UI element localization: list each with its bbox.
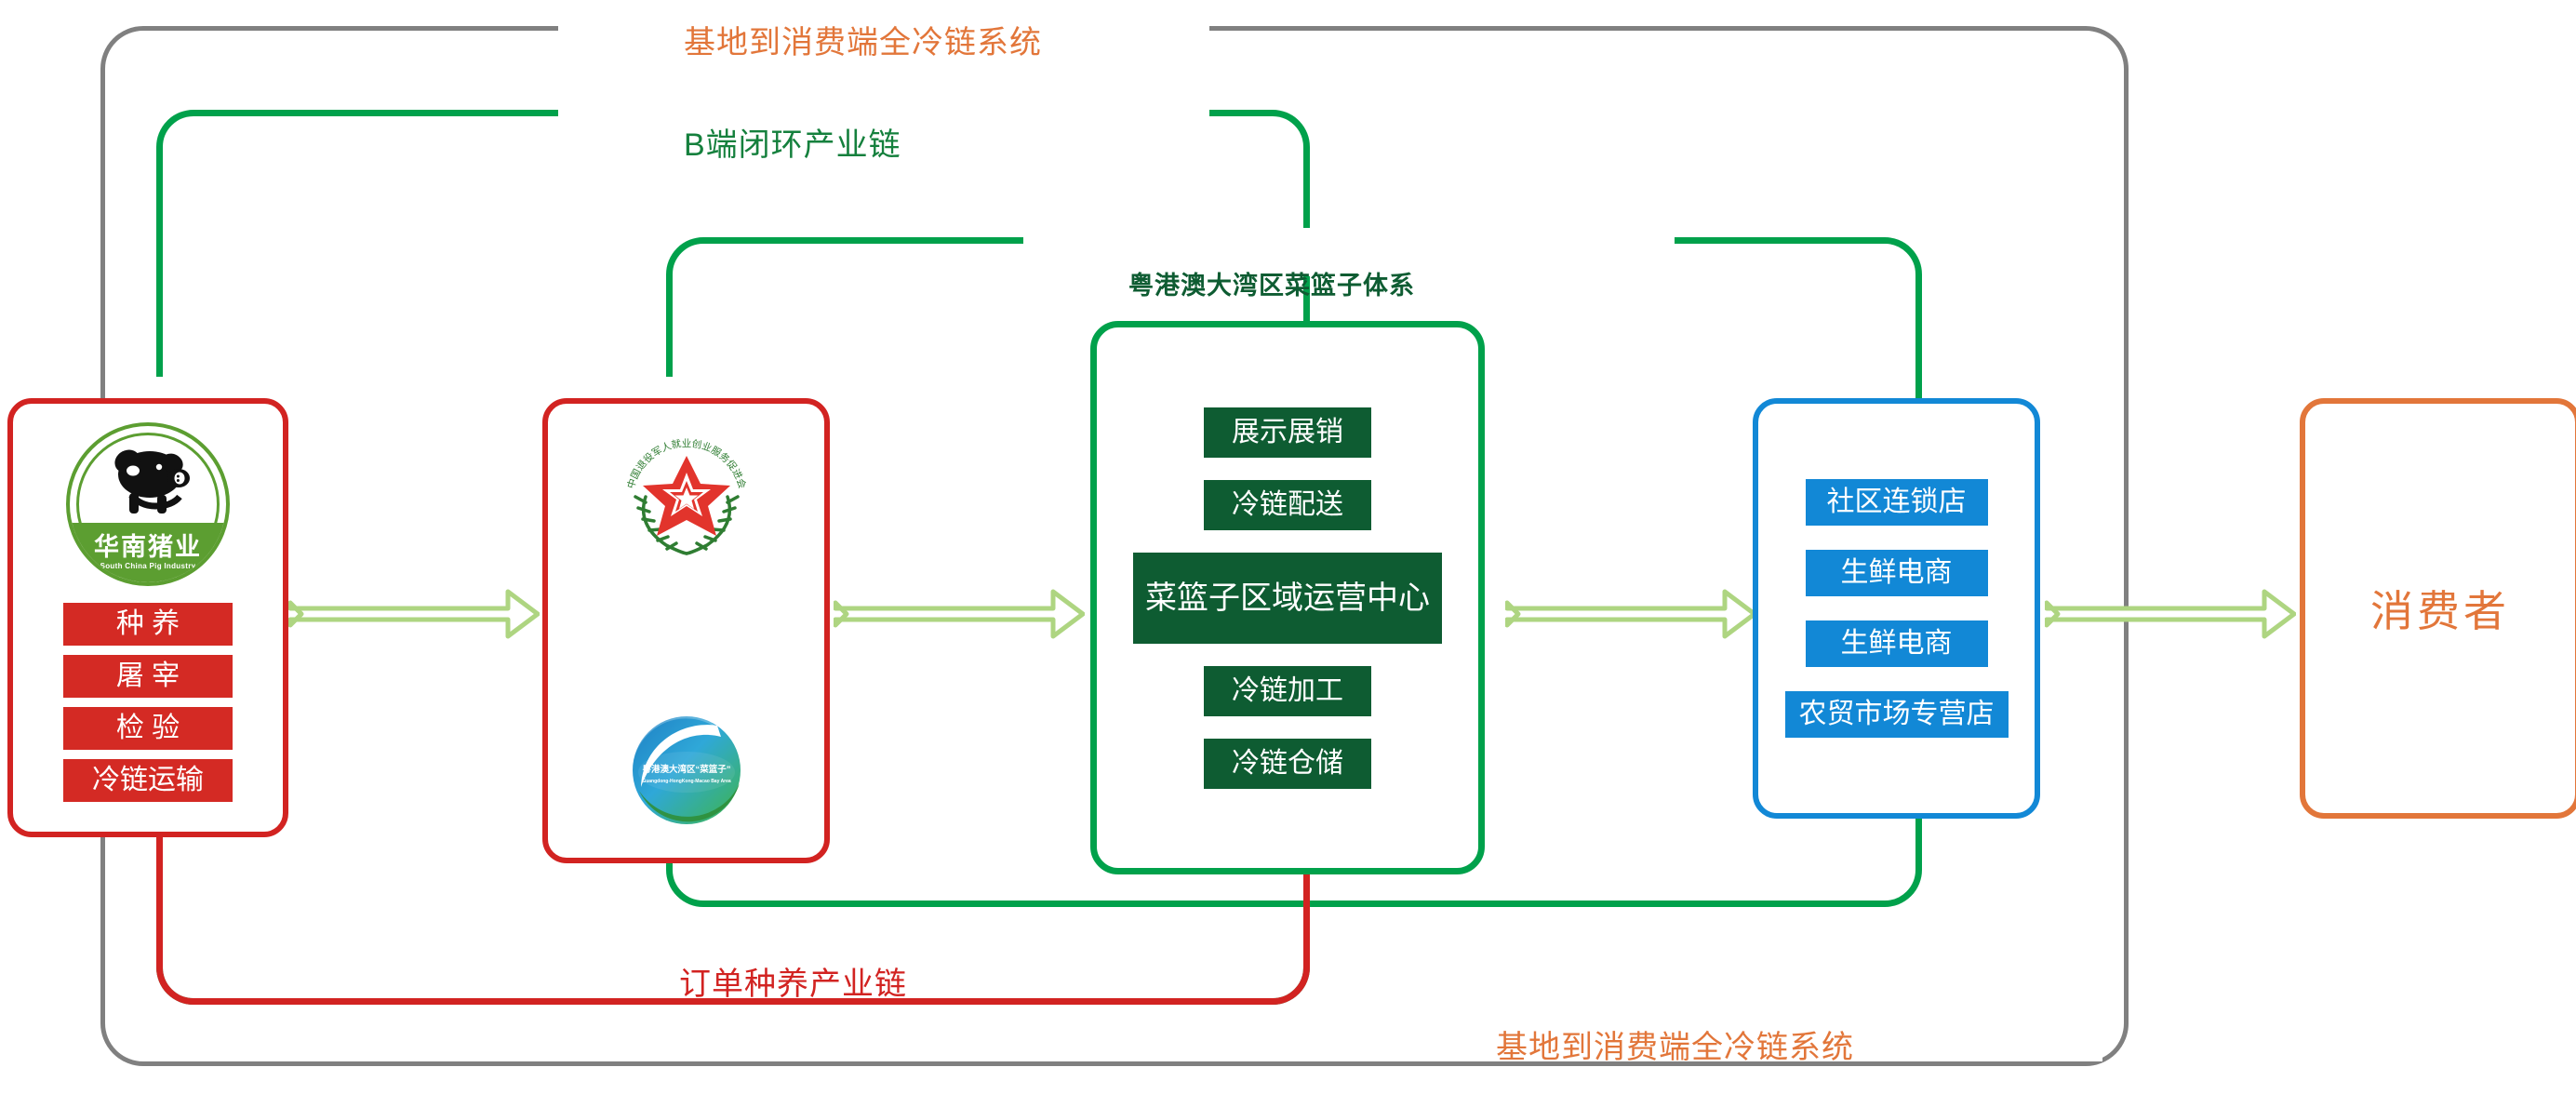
arrow-right-icon-1 bbox=[288, 588, 540, 640]
chip-community-chain-store[interactable]: 社区连锁店 bbox=[1806, 479, 1988, 526]
card-certifications[interactable]: 中国退役军人就业创业服务促进会 bbox=[542, 398, 830, 863]
card-base-production[interactable]: 华南猪业 South China Pig Industry 种 养 屠 宰 检 … bbox=[7, 398, 288, 837]
label-b-end-chain: B端闭环产业链 bbox=[684, 119, 901, 165]
card-retail-channels[interactable]: 社区连锁店 生鲜电商 生鲜电商 农贸市场专营店 bbox=[1753, 398, 2040, 819]
svg-text:粤港澳大湾区“菜篮子”: 粤港澳大湾区“菜篮子” bbox=[642, 764, 730, 775]
chip-slaughter[interactable]: 屠 宰 bbox=[63, 655, 233, 698]
logo-band: 华南猪业 South China Pig Industry bbox=[70, 523, 226, 582]
veteran-service-emblem: 中国退役军人就业创业服务促进会 bbox=[608, 428, 765, 567]
arrow-right-icon-2 bbox=[834, 588, 1085, 640]
card-basket-operations[interactable]: 展示展销 冷链配送 菜篮子区域运营中心 冷链加工 冷链仓储 bbox=[1090, 321, 1485, 874]
label-consumer: 消费者 bbox=[2370, 578, 2510, 639]
title-bottom-cold-chain: 基地到消费端全冷链系统 bbox=[1496, 1021, 1854, 1067]
chip-cold-chain-delivery[interactable]: 冷链配送 bbox=[1204, 480, 1371, 530]
arrow-right-icon-3 bbox=[1505, 588, 1756, 640]
chip-fresh-ecommerce-2[interactable]: 生鲜电商 bbox=[1806, 620, 1988, 667]
label-order-farming-chain: 订单种养产业链 bbox=[679, 958, 907, 1004]
arrow-right-icon-4 bbox=[2045, 588, 2296, 640]
logo-name-en: South China Pig Industry bbox=[100, 563, 196, 570]
chip-inspection[interactable]: 检 验 bbox=[63, 707, 233, 750]
pig-icon bbox=[100, 443, 196, 521]
chip-fresh-ecommerce-1[interactable]: 生鲜电商 bbox=[1806, 550, 1988, 596]
svg-text:Guangdong-HongKong-Macao Bay A: Guangdong-HongKong-Macao Bay Area bbox=[642, 779, 731, 784]
bay-area-basket-emblem: 粤港澳大湾区“菜篮子” Guangdong-HongKong-Macao Bay… bbox=[617, 698, 756, 837]
title-top-cold-chain: 基地到消费端全冷链系统 bbox=[684, 17, 1042, 62]
chip-breeding[interactable]: 种 养 bbox=[63, 603, 233, 646]
chip-basket-regional-operation-center[interactable]: 菜篮子区域运营中心 bbox=[1133, 553, 1442, 644]
chip-farmers-market-store[interactable]: 农贸市场专营店 bbox=[1785, 691, 2009, 738]
diagram-canvas: 基地到消费端全冷链系统 B端闭环产业链 粤港澳大湾区菜篮子体系 订单种养产业链 … bbox=[0, 0, 2576, 1094]
chip-exhibition-sales[interactable]: 展示展销 bbox=[1204, 407, 1371, 458]
card-consumer[interactable]: 消费者 bbox=[2300, 398, 2576, 819]
label-bay-area-basket-system: 粤港澳大湾区菜篮子体系 bbox=[1128, 265, 1415, 301]
chip-cold-chain-transport[interactable]: 冷链运输 bbox=[63, 759, 233, 802]
chip-cold-chain-processing[interactable]: 冷链加工 bbox=[1204, 666, 1371, 716]
south-china-pig-logo: 华南猪业 South China Pig Industry bbox=[66, 422, 230, 586]
logo-name-cn: 华南猪业 bbox=[94, 535, 202, 560]
chip-cold-chain-storage[interactable]: 冷链仓储 bbox=[1204, 739, 1371, 789]
